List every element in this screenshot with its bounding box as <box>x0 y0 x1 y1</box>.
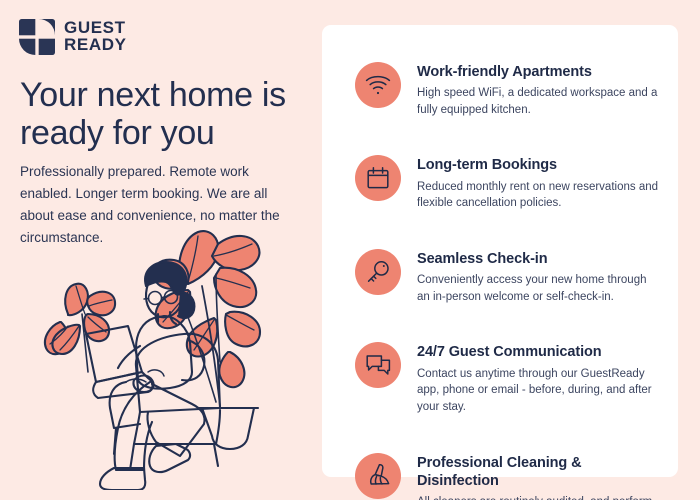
feature-description: Reduced monthly rent on new reservations… <box>417 179 660 212</box>
hero-illustration <box>30 222 320 490</box>
feature-title: Long-term Bookings <box>417 156 660 174</box>
feature-item-long-term-bookings[interactable]: Long-term Bookings Reduced monthly rent … <box>355 154 660 211</box>
feature-text: 24/7 Guest Communication Contact us anyt… <box>417 341 660 415</box>
feature-title: Professional Cleaning & Disinfection <box>417 454 660 490</box>
wifi-icon <box>355 62 401 108</box>
brand-wordmark: GUEST READY <box>64 20 127 53</box>
key-icon <box>355 249 401 295</box>
hero-column: GUEST READY Your next home is ready for … <box>0 0 322 500</box>
feature-description: High speed WiFi, a dedicated workspace a… <box>417 85 660 118</box>
feature-description: All cleaners are routinely audited, and … <box>417 494 660 500</box>
feature-title: 24/7 Guest Communication <box>417 343 660 361</box>
brand-wordmark-line2: READY <box>64 37 127 54</box>
features-list: Work-friendly Apartments High speed WiFi… <box>322 25 678 500</box>
feature-text: Seamless Check-in Conveniently access yo… <box>417 248 660 305</box>
broom-icon <box>355 453 401 499</box>
chat-bubbles-icon <box>355 342 401 388</box>
feature-title: Work-friendly Apartments <box>417 63 660 81</box>
feature-text: Work-friendly Apartments High speed WiFi… <box>417 61 660 118</box>
guestready-quadrant-logo-icon <box>19 19 55 55</box>
feature-description: Conveniently access your new home throug… <box>417 272 660 305</box>
brand-logo[interactable]: GUEST READY <box>19 19 127 55</box>
feature-title: Seamless Check-in <box>417 250 660 268</box>
feature-item-work-friendly-apartments[interactable]: Work-friendly Apartments High speed WiFi… <box>355 61 660 118</box>
feature-item-seamless-check-in[interactable]: Seamless Check-in Conveniently access yo… <box>355 248 660 305</box>
promo-page: GUEST READY Your next home is ready for … <box>0 0 700 500</box>
features-card: Work-friendly Apartments High speed WiFi… <box>322 25 678 477</box>
feature-item-guest-communication[interactable]: 24/7 Guest Communication Contact us anyt… <box>355 341 660 415</box>
feature-item-professional-cleaning[interactable]: Professional Cleaning & Disinfection All… <box>355 452 660 500</box>
feature-text: Long-term Bookings Reduced monthly rent … <box>417 154 660 211</box>
calendar-icon <box>355 155 401 201</box>
feature-description: Contact us anytime through our GuestRead… <box>417 366 660 416</box>
feature-text: Professional Cleaning & Disinfection All… <box>417 452 660 500</box>
page-title: Your next home is ready for you <box>20 76 310 152</box>
